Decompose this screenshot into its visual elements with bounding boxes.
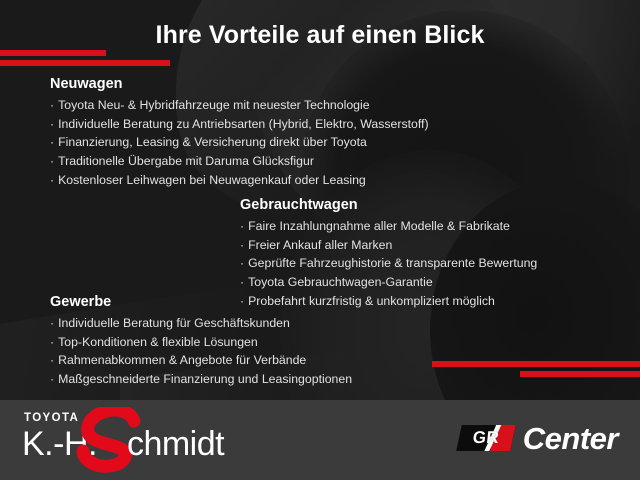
accent-bar-bottom-short xyxy=(520,371,640,377)
section-heading: Gebrauchtwagen xyxy=(240,196,537,214)
bullet-dot-icon: · xyxy=(50,353,54,367)
list-item: ·Toyota Gebrauchtwagen-Garantie xyxy=(240,273,537,292)
list-item-label: Kostenloser Leihwagen bei Neuwagenkauf o… xyxy=(58,173,366,187)
bullet-dot-icon: · xyxy=(50,154,54,168)
page-title: Ihre Vorteile auf einen Blick xyxy=(0,21,640,50)
list-item: ·Maßgeschneiderte Finanzierung und Leasi… xyxy=(50,370,352,389)
toyota-brand-label: TOYOTA xyxy=(24,413,79,425)
list-item: ·Geprüfte Fahrzeughistorie & transparent… xyxy=(240,254,537,273)
footer-bar: TOYOTA K.-H.chmidt GR Center xyxy=(0,400,640,480)
list-item-label: Finanzierung, Leasing & Versicherung dir… xyxy=(58,135,367,149)
list-item-label: Rahmenabkommen & Angebote für Verbände xyxy=(58,353,306,367)
section-bullet-list: ·Individuelle Beratung für Geschäftskund… xyxy=(50,314,352,388)
dealer-logo: TOYOTA K.-H.chmidt xyxy=(22,413,252,471)
accent-bar-top-long xyxy=(0,60,170,66)
list-item-label: Toyota Gebrauchtwagen-Garantie xyxy=(248,275,433,289)
section-heading: Gewerbe xyxy=(50,293,352,311)
list-item-label: Individuelle Beratung zu Antriebsarten (… xyxy=(58,117,428,131)
bullet-dot-icon: · xyxy=(240,256,244,270)
gr-center-logo: GR Center xyxy=(459,416,618,460)
list-item: ·Faire Inzahlungnahme aller Modelle & Fa… xyxy=(240,217,537,236)
gr-center-word: Center xyxy=(523,423,618,454)
bullet-dot-icon: · xyxy=(50,117,54,131)
list-item-label: Maßgeschneiderte Finanzierung und Leasin… xyxy=(58,372,352,386)
list-item: ·Top-Konditionen & flexible Lösungen xyxy=(50,333,352,352)
list-item: ·Individuelle Beratung zu Antriebsarten … xyxy=(50,115,429,134)
accent-bar-top-short xyxy=(0,50,106,56)
bullet-dot-icon: · xyxy=(240,238,244,252)
section-neuwagen: Neuwagen ·Toyota Neu- & Hybridfahrzeuge … xyxy=(50,75,429,189)
list-item: ·Individuelle Beratung für Geschäftskund… xyxy=(50,314,352,333)
list-item-label: Freier Ankauf aller Marken xyxy=(248,238,392,252)
section-bullet-list: ·Toyota Neu- & Hybridfahrzeuge mit neues… xyxy=(50,96,429,189)
accent-bar-bottom-long xyxy=(432,361,640,367)
list-item-label: Faire Inzahlungnahme aller Modelle & Fab… xyxy=(248,219,510,233)
bullet-dot-icon: · xyxy=(50,335,54,349)
bullet-dot-icon: · xyxy=(50,173,54,187)
bullet-dot-icon: · xyxy=(50,98,54,112)
gr-badge-icon: GR xyxy=(456,425,516,451)
section-gewerbe: Gewerbe ·Individuelle Beratung für Gesch… xyxy=(50,293,352,389)
list-item-label: Individuelle Beratung für Geschäftskunde… xyxy=(58,316,290,330)
list-item-label: Geprüfte Fahrzeughistorie & transparente… xyxy=(248,256,537,270)
list-item: ·Traditionelle Übergabe mit Daruma Glück… xyxy=(50,152,429,171)
list-item: ·Finanzierung, Leasing & Versicherung di… xyxy=(50,133,429,152)
bullet-dot-icon: · xyxy=(50,372,54,386)
bullet-dot-icon: · xyxy=(50,316,54,330)
marketing-slide: Ihre Vorteile auf einen Blick Neuwagen ·… xyxy=(0,0,640,480)
list-item: ·Freier Ankauf aller Marken xyxy=(240,236,537,255)
list-item: ·Rahmenabkommen & Angebote für Verbände xyxy=(50,351,352,370)
bullet-dot-icon: · xyxy=(240,275,244,289)
dealer-name-suffix: chmidt xyxy=(127,425,224,463)
list-item: ·Kostenloser Leihwagen bei Neuwagenkauf … xyxy=(50,171,429,190)
gr-badge-label: GR xyxy=(457,425,514,451)
list-item-label: Toyota Neu- & Hybridfahrzeuge mit neuest… xyxy=(58,98,369,112)
section-heading: Neuwagen xyxy=(50,75,429,93)
list-item-label: Traditionelle Übergabe mit Daruma Glücks… xyxy=(58,154,314,168)
list-item: ·Toyota Neu- & Hybridfahrzeuge mit neues… xyxy=(50,96,429,115)
bullet-dot-icon: · xyxy=(50,135,54,149)
list-item-label: Top-Konditionen & flexible Lösungen xyxy=(58,335,258,349)
bullet-dot-icon: · xyxy=(240,219,244,233)
